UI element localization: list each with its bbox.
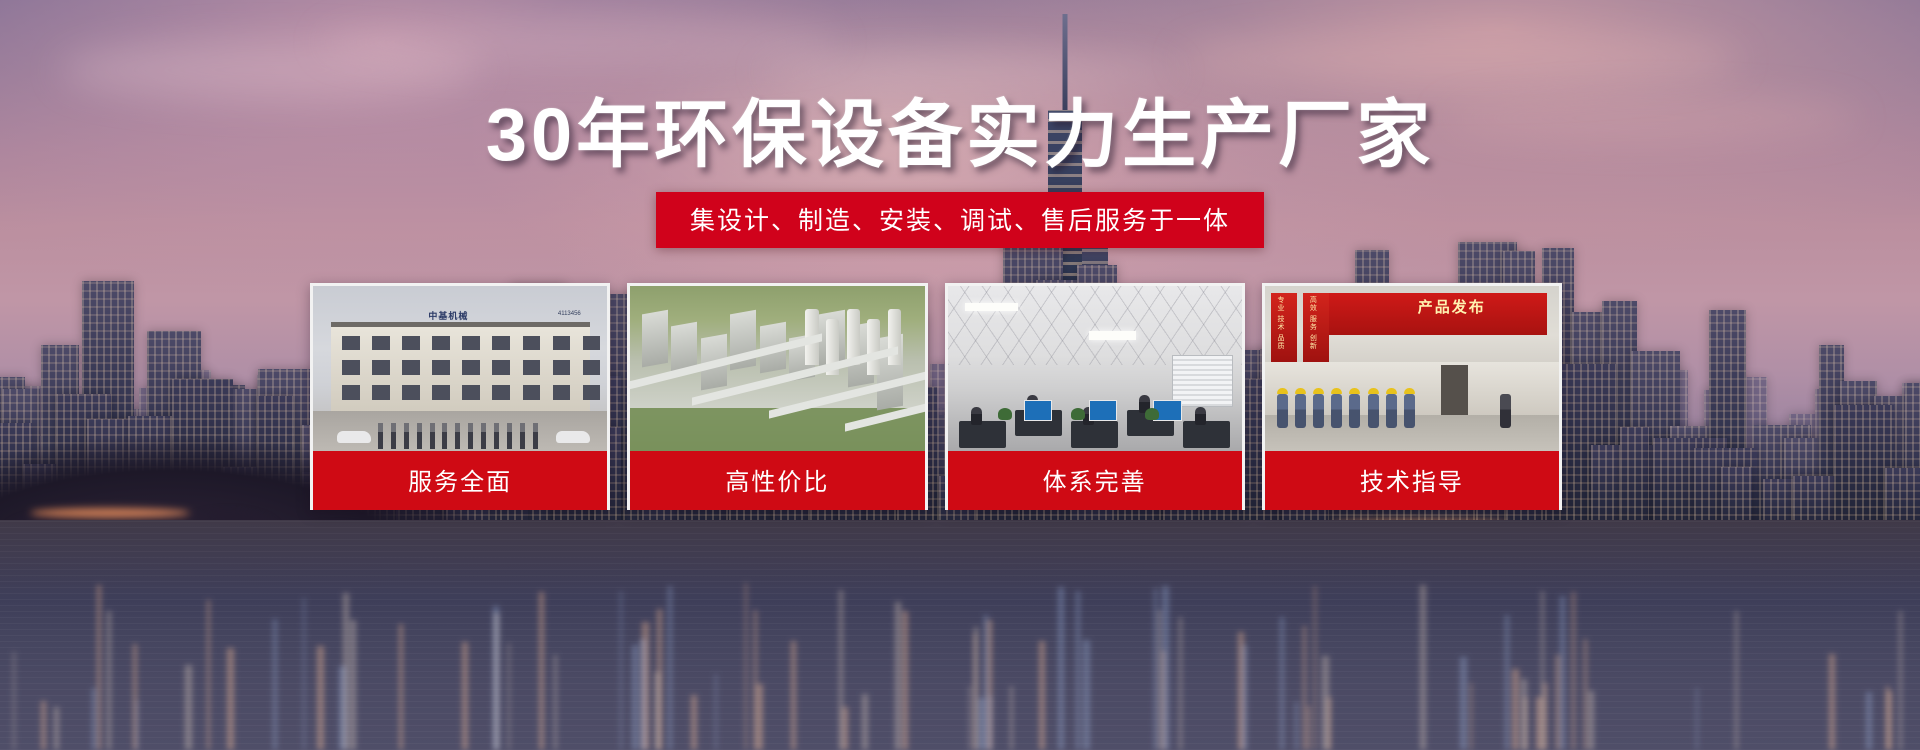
water-reflection (462, 642, 468, 750)
water-reflection (668, 586, 672, 750)
card-photo-office-interior (948, 286, 1242, 451)
monitor (1089, 400, 1117, 422)
water-reflection (691, 695, 697, 750)
water-reflection (1899, 611, 1901, 750)
factory-worker (1404, 394, 1415, 428)
ceiling-lamp (1089, 331, 1136, 341)
water-reflection (1307, 706, 1309, 750)
subtitle-ribbon-wrap: 集设计、制造、安装、调试、售后服务于一体 (0, 192, 1920, 248)
water-reflection (1512, 669, 1519, 750)
parked-car (556, 431, 590, 443)
water-reflection (620, 591, 622, 750)
water-reflection (1238, 632, 1244, 750)
window (583, 360, 601, 375)
water-reflection (1584, 639, 1587, 750)
ceiling-lamp (965, 303, 1018, 311)
water-reflection (1179, 617, 1182, 750)
water-reflection (1076, 591, 1080, 750)
water-reflection (136, 700, 138, 750)
window (492, 336, 510, 351)
water-reflection (745, 583, 747, 750)
water-reflection (984, 615, 988, 750)
water-reflection (974, 634, 977, 750)
staff-person (507, 423, 512, 449)
monitor (1024, 400, 1052, 422)
water-reflection (754, 610, 758, 750)
water-reflection (1039, 641, 1045, 750)
factory-banner-text: 产品发布 (1418, 296, 1486, 317)
water-reflection (1735, 611, 1738, 750)
water-reflection (1886, 686, 1889, 750)
water-reflection (227, 648, 234, 750)
factory-worker (1386, 394, 1397, 428)
safety-helmet (1386, 388, 1397, 394)
water-reflection (1536, 697, 1543, 750)
window (342, 385, 360, 400)
water-reflection (1314, 586, 1316, 750)
water-reflection (303, 598, 305, 750)
staff-person (404, 423, 409, 449)
water-reflection (862, 694, 868, 750)
staff-person (417, 423, 422, 449)
window (342, 360, 360, 375)
water-reflection (1162, 586, 1169, 750)
water-reflection (1560, 596, 1565, 750)
water-reflection (317, 646, 323, 750)
water-reflection (1010, 686, 1013, 750)
water-reflection (895, 602, 901, 750)
water-reflection (1327, 697, 1331, 750)
feature-card-list: 中基机械 4113456 服务全面 高性价比 体系完善 (310, 283, 1562, 510)
window (553, 336, 571, 351)
water-reflection (185, 665, 192, 750)
water-reflection (969, 686, 971, 750)
water-reflection (1829, 654, 1835, 750)
water-reflection (902, 611, 908, 750)
water-reflection (1083, 640, 1090, 750)
water-reflection (41, 701, 45, 750)
cloud (760, 52, 1180, 92)
water-reflection (839, 590, 843, 750)
water-reflection (1420, 585, 1426, 750)
water-reflection (1696, 688, 1698, 750)
water-reflection (1154, 588, 1156, 750)
window (523, 336, 541, 351)
water-reflection (54, 707, 59, 750)
safety-helmet (1368, 388, 1379, 394)
window (372, 385, 390, 400)
staff-person (481, 423, 486, 449)
river-foreground (0, 520, 1920, 750)
potted-plant (1071, 408, 1085, 420)
staff-person (442, 423, 447, 449)
card-caption: 体系完善 (948, 451, 1242, 510)
potted-plant (1145, 408, 1159, 420)
water-reflection (508, 643, 510, 750)
card-photo-factory-workers: 产品发布 专业 技术 品质 高效 服务 创新 (1265, 286, 1559, 451)
feature-card[interactable]: 中基机械 4113456 服务全面 (310, 283, 610, 510)
water-reflection (1521, 679, 1527, 750)
cloud (1180, 30, 1740, 88)
factory-worker (1349, 394, 1360, 428)
window (402, 360, 420, 375)
staff-person (468, 423, 473, 449)
window (342, 336, 360, 351)
staff-person (494, 423, 499, 449)
subtitle-ribbon: 集设计、制造、安装、调试、售后服务于一体 (656, 192, 1264, 248)
card-photo-aerial-plant (630, 286, 924, 451)
neon-light (30, 508, 190, 518)
water-reflection (13, 652, 15, 750)
water-reflection (1460, 657, 1467, 750)
window (402, 385, 420, 400)
potted-plant (998, 408, 1012, 420)
desk (1071, 421, 1118, 447)
vertical-banner-right-text: 高效 服务 创新 (1307, 296, 1317, 350)
office-worker (1195, 407, 1206, 425)
staff-person (533, 423, 538, 449)
safety-helmet (1295, 388, 1306, 394)
cloud (320, 18, 840, 66)
window (583, 336, 601, 351)
window (402, 336, 420, 351)
water-reflection (539, 592, 544, 750)
ceiling (948, 286, 1242, 365)
water-reflection (494, 613, 498, 750)
window (372, 360, 390, 375)
water-reflection (1280, 617, 1284, 750)
water-reflection (1543, 683, 1547, 750)
vertical-banner-left-text: 专业 技术 品质 (1275, 296, 1285, 350)
card-caption: 高性价比 (630, 451, 924, 510)
window (553, 385, 571, 400)
window (432, 360, 450, 375)
water-reflection (107, 611, 112, 750)
window (462, 385, 480, 400)
water-reflection (989, 696, 993, 750)
card-caption: 服务全面 (313, 451, 607, 510)
water-reflection (97, 585, 101, 750)
water-reflection (1866, 692, 1872, 750)
window (492, 385, 510, 400)
factory-worker (1295, 394, 1306, 428)
water-reflection (207, 600, 210, 750)
window (372, 336, 390, 351)
phone-plate: 4113456 (558, 311, 581, 317)
water-reflection (632, 645, 639, 750)
page-title: 30年环保设备实力生产厂家 (0, 98, 1920, 172)
staff-person (378, 423, 383, 449)
factory-worker (1331, 394, 1342, 428)
parked-car (337, 431, 371, 443)
water-reflection (791, 641, 796, 750)
card-photo-office-building: 中基机械 4113456 (313, 286, 607, 451)
water-reflection (715, 674, 717, 750)
window (462, 360, 480, 375)
desk (1183, 421, 1230, 447)
staff-person (520, 423, 525, 449)
water-reflection (1158, 610, 1161, 750)
window (553, 360, 571, 375)
staff-person (455, 423, 460, 449)
safety-helmet (1404, 388, 1415, 394)
factory-worker (1313, 394, 1324, 428)
staff-person (430, 423, 435, 449)
safety-helmet (1313, 388, 1324, 394)
company-sign: 中基机械 (428, 309, 468, 322)
factory-worker (1277, 394, 1288, 428)
supervisor (1500, 394, 1511, 428)
water-reflection (1470, 683, 1472, 750)
safety-helmet (1331, 388, 1342, 394)
water-reflection (350, 620, 355, 750)
window (523, 360, 541, 375)
safety-helmet (1277, 388, 1288, 394)
feature-card[interactable]: 体系完善 (945, 283, 1245, 510)
factory-worker (1368, 394, 1379, 428)
window (462, 336, 480, 351)
staff-person (391, 423, 396, 449)
water-reflection (640, 639, 646, 750)
water-reflection (1505, 615, 1509, 750)
water-reflection (554, 655, 557, 750)
window (432, 385, 450, 400)
water-reflection (1303, 626, 1306, 750)
water-reflection (1588, 691, 1594, 750)
plant-structure (642, 310, 668, 367)
water-reflection (399, 624, 403, 750)
promo-banner: 30年环保设备实力生产厂家 集设计、制造、安装、调试、售后服务于一体 中基机械 … (0, 0, 1920, 750)
feature-card[interactable]: 高性价比 (627, 283, 927, 510)
factory-door (1441, 365, 1467, 415)
water-reflection (92, 688, 97, 750)
office-worker (971, 407, 982, 425)
window (432, 336, 450, 351)
water-reflection (657, 609, 662, 750)
silo (888, 309, 901, 365)
window (583, 385, 601, 400)
desk (959, 421, 1006, 447)
water-reflection (1058, 587, 1064, 750)
water-reflection (273, 619, 277, 750)
card-caption: 技术指导 (1265, 451, 1559, 510)
window (523, 385, 541, 400)
window (492, 360, 510, 375)
silo (867, 319, 880, 375)
water-reflection (1572, 592, 1575, 750)
water-reflection (343, 593, 350, 750)
feature-card[interactable]: 产品发布 专业 技术 品质 高效 服务 创新 技术指导 (1262, 283, 1562, 510)
water-reflection (1295, 702, 1299, 750)
building-block (331, 322, 590, 419)
